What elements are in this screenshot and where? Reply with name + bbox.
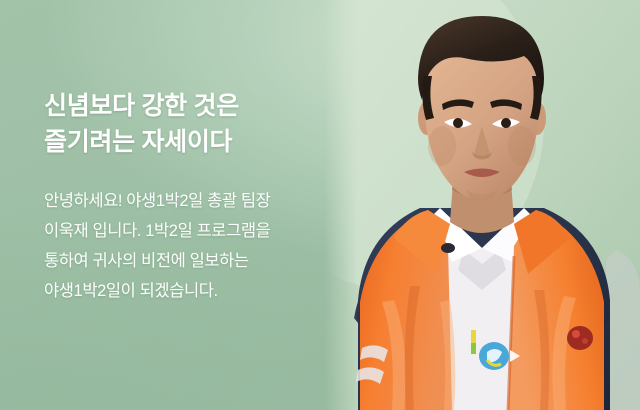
copy-block: 신념보다 강한 것은 즐기려는 자세이다 안녕하세요! 야생1박2일 총괄 팀장… [44, 88, 344, 306]
body-copy: 안녕하세요! 야생1박2일 총괄 팀장 이욱재 입니다. 1박2일 프로그램을 … [44, 186, 344, 306]
headline-line-1: 신념보다 강한 것은 [44, 88, 344, 124]
headline: 신념보다 강한 것은 즐기려는 자세이다 [44, 88, 344, 160]
badge-accent-strip [471, 330, 476, 354]
body-line-1: 안녕하세요! 야생1박2일 총괄 팀장 [44, 186, 344, 216]
body-line-4: 야생1박2일이 되겠습니다. [44, 276, 344, 306]
body-line-2: 이욱재 입니다. 1박2일 프로그램을 [44, 216, 344, 246]
shoulder-patch [567, 326, 593, 350]
body-line-3: 통하여 귀사의 비전에 일보하는 [44, 246, 344, 276]
lapel-microphone [441, 243, 455, 253]
cheek-shadow-left [428, 126, 456, 166]
headline-line-2: 즐기려는 자세이다 [44, 124, 344, 160]
portrait-photo [324, 0, 640, 410]
cheek-shadow-right [508, 126, 536, 166]
greeting-banner: 신념보다 강한 것은 즐기려는 자세이다 안녕하세요! 야생1박2일 총괄 팀장… [0, 0, 640, 410]
chair-back [606, 250, 640, 410]
